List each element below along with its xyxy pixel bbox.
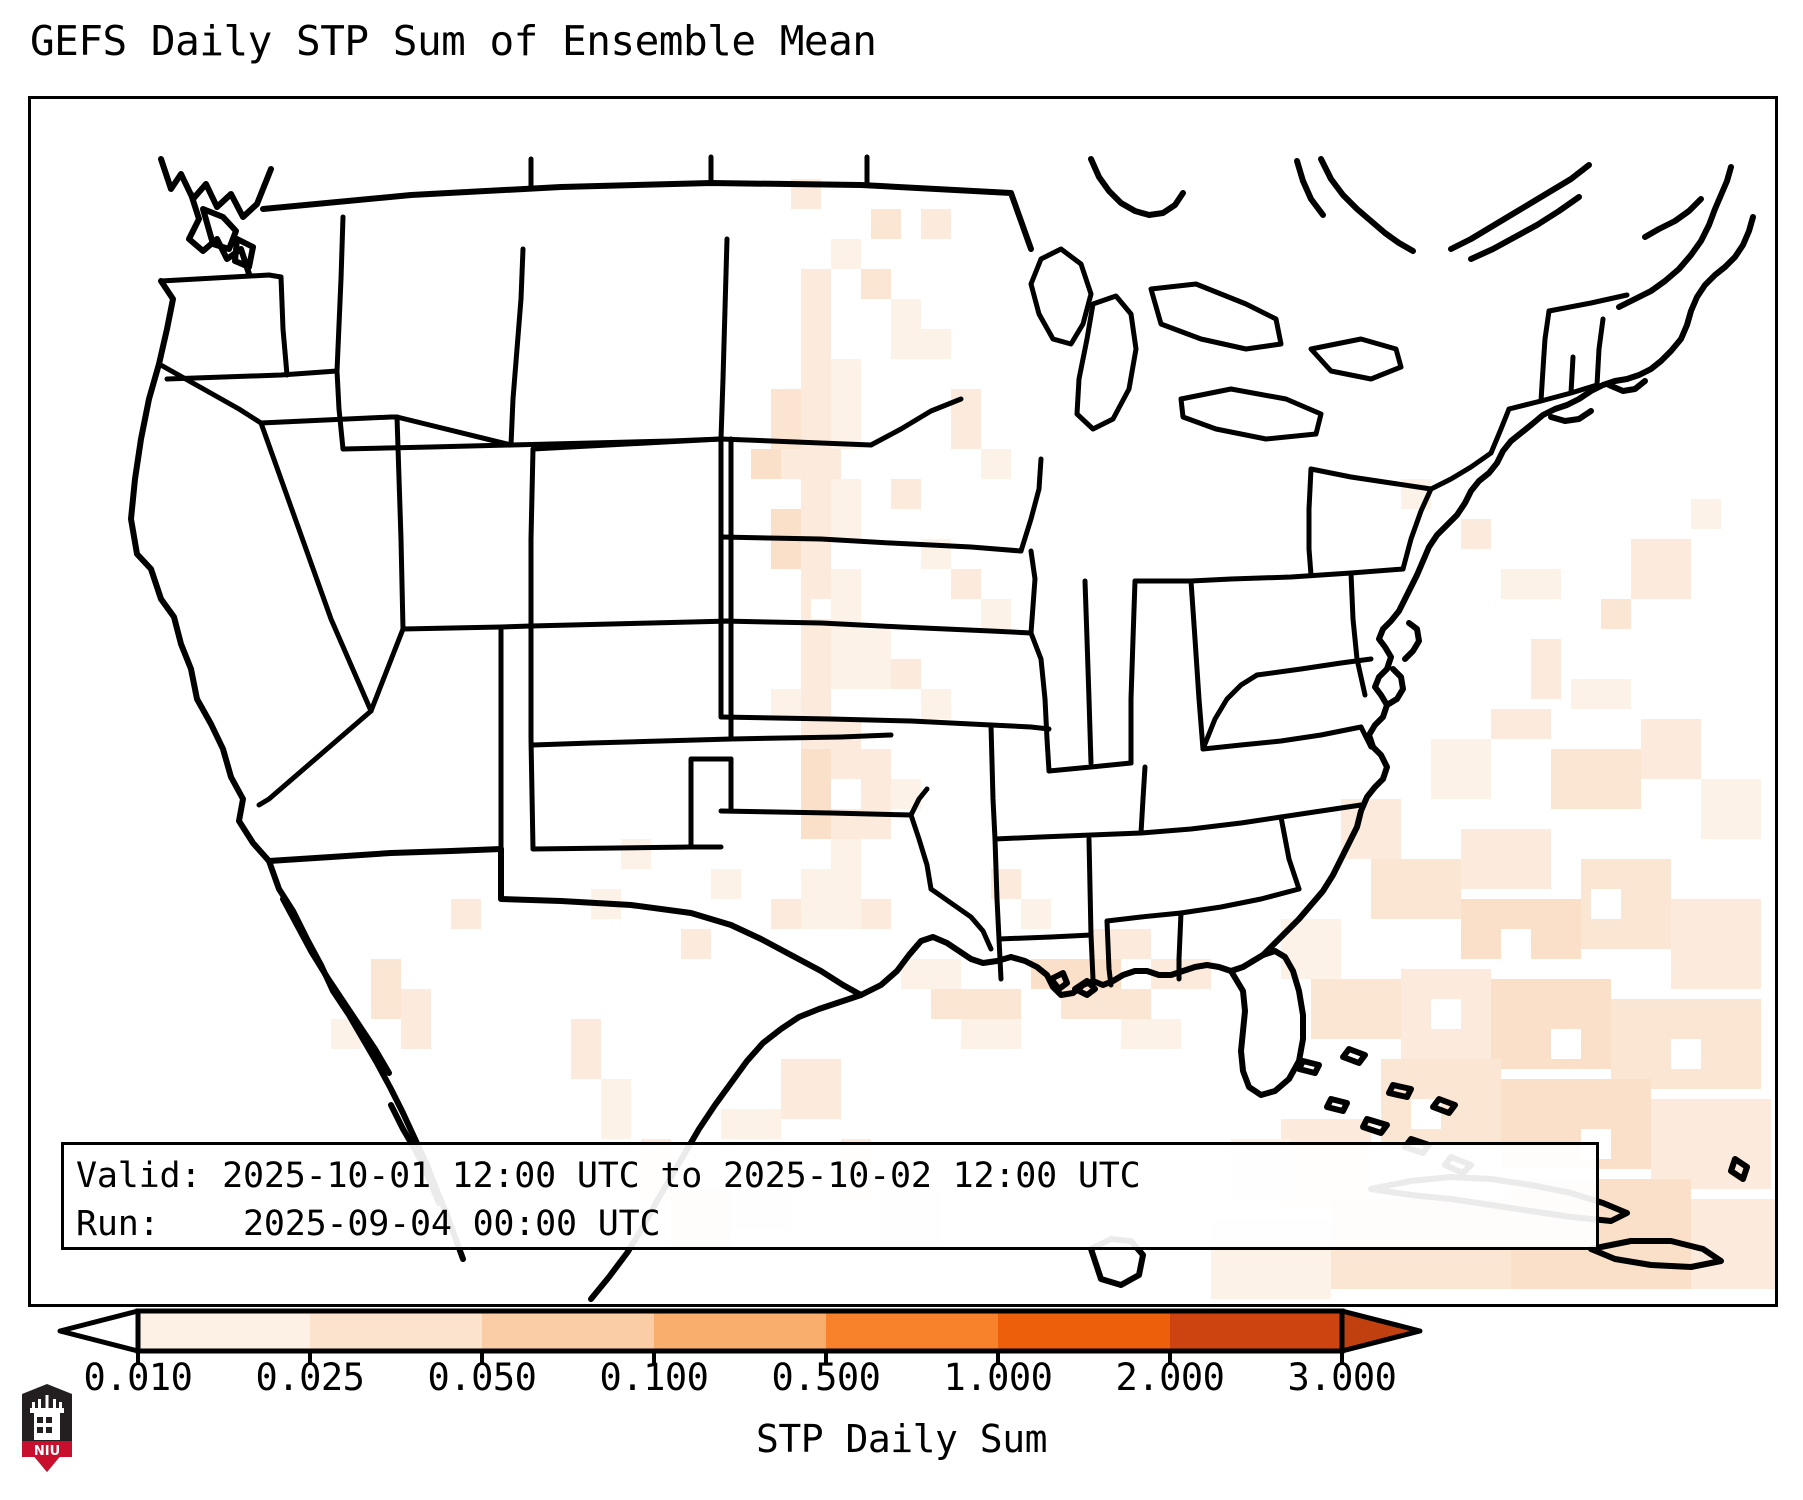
great-lakes — [1031, 249, 1401, 439]
colorbar-tick-5: 1.000 — [944, 1356, 1053, 1400]
colorbar-bands — [138, 1311, 1342, 1351]
colorbar-tick-2: 0.050 — [428, 1356, 537, 1400]
colorbar-tick-6: 2.000 — [1116, 1356, 1225, 1400]
stp-shading-layer — [331, 179, 1775, 1299]
colorbar-tick-7: 3.000 — [1288, 1356, 1397, 1400]
niu-logo-svg: NIU — [16, 1384, 78, 1472]
map-panel[interactable]: Valid: 2025-10-01 12:00 UTC to 2025-10-0… — [28, 96, 1778, 1307]
colorbar-axis-label: STP Daily Sum — [0, 1417, 1803, 1461]
figure-canvas: GEFS Daily STP Sum of Ensemble Mean — [0, 0, 1803, 1500]
colorbar-tick-0: 0.010 — [84, 1356, 193, 1400]
colorbar-over-arrow — [1342, 1311, 1420, 1351]
conus-map[interactable] — [31, 99, 1775, 1304]
valid-time-line: Valid: 2025-10-01 12:00 UTC to 2025-10-0… — [76, 1152, 1596, 1200]
colorbar-tick-3: 0.100 — [600, 1356, 709, 1400]
colorbar-tick-1: 0.025 — [256, 1356, 365, 1400]
page-title: GEFS Daily STP Sum of Ensemble Mean — [30, 16, 876, 66]
colorbar-under-arrow — [60, 1311, 138, 1351]
run-time-line: Run: 2025-09-04 00:00 UTC — [76, 1200, 1596, 1248]
colorbar-tick-4: 0.500 — [772, 1356, 881, 1400]
niu-logo: NIU — [16, 1384, 78, 1472]
info-box: Valid: 2025-10-01 12:00 UTC to 2025-10-0… — [61, 1142, 1599, 1250]
colorbar-tick-labels: 0.010 0.025 0.050 0.100 0.500 1.000 2.00… — [0, 1356, 1803, 1406]
niu-logo-text: NIU — [34, 1444, 60, 1459]
